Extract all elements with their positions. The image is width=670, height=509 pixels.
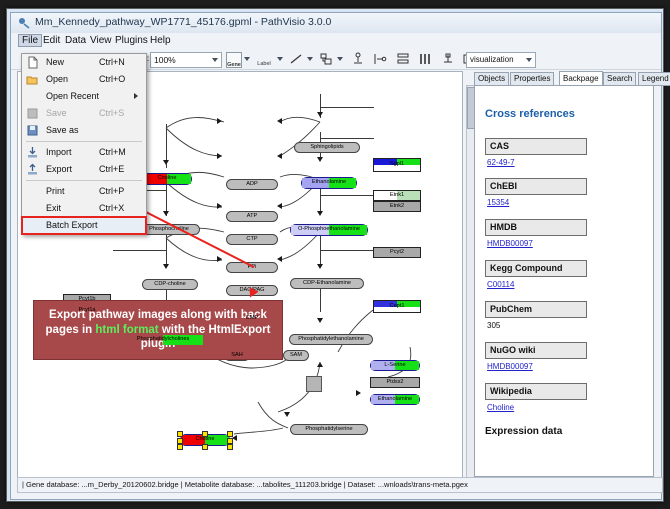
pathway-node-sgpl1[interactable]: Sgpl1 bbox=[373, 158, 421, 172]
visualization-value: visualization bbox=[470, 55, 514, 64]
pathway-node-cept1[interactable]: Cept1 bbox=[373, 300, 421, 313]
screenshot-root: Mm_Kennedy_pathway_WP1771_45176.gpml - P… bbox=[0, 0, 670, 509]
arrow-head bbox=[217, 203, 222, 209]
export-icon bbox=[26, 163, 39, 176]
annotation-callout: Export pathway images along with back pa… bbox=[33, 300, 283, 360]
backpage-content: Cross references CAS 62-49-7 ChEBI 15354… bbox=[474, 85, 654, 477]
arrow-head bbox=[284, 412, 290, 417]
xref-value-cas[interactable]: 62-49-7 bbox=[487, 158, 515, 167]
menu-item-export[interactable]: Export Ctrl+E bbox=[22, 161, 146, 178]
xref-header-kegg-compound: Kegg Compound bbox=[485, 260, 587, 277]
chevron-down-icon bbox=[212, 58, 218, 62]
pathway-node-phosphatidylethanolamine[interactable]: Phosphatidylethanolamine bbox=[289, 334, 373, 345]
pathway-node-sam[interactable]: SAM bbox=[283, 350, 309, 361]
arrow-head bbox=[356, 390, 361, 396]
label-tool-label: Label bbox=[257, 61, 270, 67]
arrow-head bbox=[317, 362, 323, 367]
callout-highlight: html format bbox=[95, 324, 158, 336]
xref-value-kegg-compound[interactable]: C00114 bbox=[487, 280, 514, 289]
arrow-head bbox=[217, 118, 222, 124]
menu-help[interactable]: Help bbox=[146, 34, 175, 47]
arrow-head bbox=[277, 153, 282, 159]
open-folder-icon bbox=[26, 73, 39, 86]
tab-properties[interactable]: Properties bbox=[510, 72, 554, 86]
xref-value-hmdb[interactable]: HMDB00097 bbox=[487, 239, 533, 248]
menu-item-exit[interactable]: Exit Ctrl+X bbox=[22, 200, 146, 217]
submenu-arrow-icon bbox=[134, 93, 138, 99]
expression-data-title: Expression data bbox=[485, 426, 562, 437]
title-bar: Mm_Kennedy_pathway_WP1771_45176.gpml - P… bbox=[11, 13, 661, 33]
xref-header-nugo-wiki: NuGO wiki bbox=[485, 342, 587, 359]
pathway-node-etnk2[interactable]: Etnk2 bbox=[373, 201, 421, 212]
pathway-node-phosphatidylserine[interactable]: Phosphatidylserine bbox=[290, 424, 368, 435]
stack-vertical-icon[interactable] bbox=[396, 52, 410, 66]
shape-tool-icon[interactable] bbox=[319, 52, 333, 66]
xref-header-pubchem: PubChem bbox=[485, 301, 587, 318]
xref-header-chebi: ChEBI bbox=[485, 178, 587, 195]
menu-item-save: Save Ctrl+S bbox=[22, 105, 146, 122]
menu-item-open[interactable]: Open Ctrl+O bbox=[22, 71, 146, 88]
tab-backpage[interactable]: Backpage bbox=[559, 71, 603, 86]
window-title: Mm_Kennedy_pathway_WP1771_45176.gpml - P… bbox=[35, 16, 331, 28]
distribute-icon[interactable] bbox=[418, 52, 432, 66]
arrow-head bbox=[217, 256, 222, 262]
pathway-node-cdp-ethanolamine[interactable]: CDP-Ethanolamine bbox=[290, 278, 364, 289]
selection-handle[interactable] bbox=[227, 444, 233, 450]
gene-tool-label: Gene bbox=[227, 62, 241, 68]
import-icon bbox=[26, 146, 39, 159]
pathway-node-sphingolipids[interactable]: Sphingolipids bbox=[294, 142, 360, 153]
pathway-node-ptdss2[interactable]: Ptdss2 bbox=[370, 377, 420, 388]
label-tool-button[interactable]: Label bbox=[254, 52, 274, 66]
zoom-value: 100% bbox=[154, 55, 176, 65]
pathway-node-adp[interactable]: ADP bbox=[226, 179, 278, 190]
menu-item-print[interactable]: Print Ctrl+P bbox=[22, 183, 146, 200]
save-as-icon bbox=[26, 124, 39, 137]
chevron-down-icon bbox=[526, 58, 532, 62]
label-tool-chevron-down-icon[interactable] bbox=[277, 57, 283, 61]
selection-handle[interactable] bbox=[177, 431, 183, 437]
pathway-node-choline-top[interactable]: Choline bbox=[142, 173, 192, 185]
pathway-node-ctp[interactable]: CTP bbox=[226, 234, 278, 245]
pathway-node-atp[interactable]: ATP bbox=[226, 211, 278, 222]
xref-value-wikipedia[interactable]: Choline bbox=[487, 403, 514, 412]
pathway-node-ethanolamine-top[interactable]: Ethanolamine bbox=[301, 177, 357, 189]
menu-item-import[interactable]: Import Ctrl+M bbox=[22, 144, 146, 161]
line-tool-icon[interactable] bbox=[289, 52, 303, 66]
status-text: | Gene database: ...m_Derby_20120602.bri… bbox=[22, 480, 468, 489]
save-icon bbox=[26, 107, 39, 120]
xref-value-chebi[interactable]: 15354 bbox=[487, 198, 509, 207]
side-panel: Objects Properties Backpage Search Legen… bbox=[466, 71, 656, 478]
pathway-node-etnk1[interactable]: Etnk1 bbox=[373, 190, 421, 201]
xref-header-wikipedia: Wikipedia bbox=[485, 383, 587, 400]
menu-item-new[interactable]: New Ctrl+N bbox=[22, 54, 146, 71]
xref-header-cas: CAS bbox=[485, 138, 587, 155]
group-icon[interactable] bbox=[441, 52, 455, 66]
menu-item-save-as[interactable]: Save as bbox=[22, 122, 146, 139]
application-window: Mm_Kennedy_pathway_WP1771_45176.gpml - P… bbox=[6, 8, 664, 502]
menu-separator bbox=[26, 141, 142, 142]
xref-header-hmdb: HMDB bbox=[485, 219, 587, 236]
xref-value-nugo-wiki[interactable]: HMDB00097 bbox=[487, 362, 533, 371]
line-tool-chevron-down-icon[interactable] bbox=[307, 57, 313, 61]
align-top-icon[interactable] bbox=[351, 52, 365, 66]
arrow-head bbox=[217, 153, 222, 159]
menu-item-batch-export[interactable]: Batch Export bbox=[22, 217, 146, 234]
tab-search[interactable]: Search bbox=[603, 72, 636, 86]
pathway-node-cdp-choline[interactable]: CDP-choline bbox=[142, 279, 198, 290]
status-bar: | Gene database: ...m_Derby_20120602.bri… bbox=[17, 477, 663, 493]
menu-item-open-recent[interactable]: Open Recent bbox=[22, 88, 146, 105]
visualization-select[interactable]: visualization bbox=[466, 52, 536, 68]
arrow-head bbox=[277, 118, 282, 124]
tab-objects[interactable]: Objects bbox=[474, 72, 509, 86]
tab-legend[interactable]: Legend bbox=[638, 72, 670, 86]
menu-bar: File Edit Data View Plugins Help bbox=[11, 33, 661, 48]
pathway-node-unlabeled-box[interactable] bbox=[306, 376, 322, 392]
cross-references-title: Cross references bbox=[485, 108, 575, 120]
pathvisio-icon bbox=[18, 17, 30, 29]
shape-tool-chevron-down-icon[interactable] bbox=[337, 57, 343, 61]
arrow-head bbox=[277, 203, 282, 209]
pathway-node-ethanolamine-bottom[interactable]: Ethanolamine bbox=[370, 394, 420, 405]
gene-tool-button[interactable]: Gene bbox=[226, 52, 242, 68]
pathway-node-l-serine[interactable]: L-Serine bbox=[370, 360, 420, 371]
zoom-select[interactable]: 100% bbox=[150, 52, 222, 68]
menu-separator bbox=[26, 180, 142, 181]
window-inner: Mm_Kennedy_pathway_WP1771_45176.gpml - P… bbox=[10, 12, 662, 500]
xref-value-pubchem: 305 bbox=[487, 321, 500, 330]
align-left-icon[interactable] bbox=[373, 52, 387, 66]
gene-tool-chevron-down-icon[interactable] bbox=[244, 57, 250, 61]
file-menu-dropdown[interactable]: New Ctrl+N Open Ctrl+O Open Recent Save … bbox=[21, 53, 147, 235]
arrow-head bbox=[277, 256, 282, 262]
new-file-icon bbox=[26, 56, 39, 69]
selection-handle[interactable] bbox=[177, 444, 183, 450]
selection-handle[interactable] bbox=[227, 431, 233, 437]
pathway-node-pcyt2[interactable]: Pcyt2 bbox=[373, 247, 421, 258]
selection-handle[interactable] bbox=[202, 444, 208, 450]
selection-handle[interactable] bbox=[202, 431, 208, 437]
pathway-node-o-phosphoethanolamine[interactable]: O-Phosphoethanolamine bbox=[290, 224, 368, 236]
